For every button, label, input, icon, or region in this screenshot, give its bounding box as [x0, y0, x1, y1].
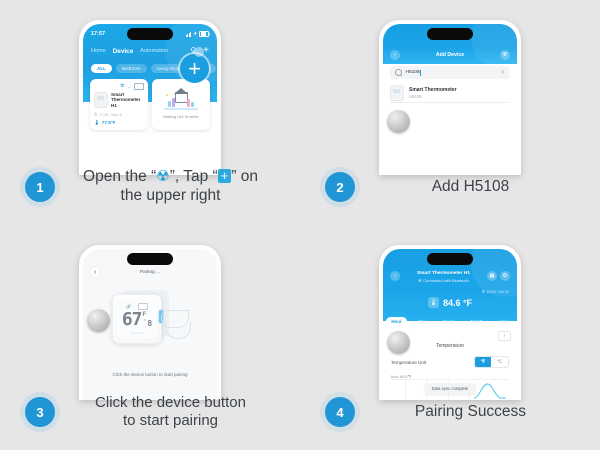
device-detail-navbar: ‹ Smart Thermometer H1 ☢ Connected with … [383, 271, 517, 285]
statistics-icon[interactable]: ▦ [487, 271, 497, 281]
caption-line-1: Click the device button [95, 394, 246, 411]
step-3-caption: 3 Click the device button to start pairi… [0, 382, 300, 442]
unit-toggle[interactable]: ℉ ℃ [474, 356, 509, 368]
status-bar: 17:57 ◕ [83, 27, 217, 41]
step-2-text: Add H5108 [355, 178, 600, 197]
chip-bedroom[interactable]: Bedroom [116, 64, 147, 73]
step-badge-3: 3 [25, 397, 55, 427]
chevron-left-icon[interactable]: ‹ [90, 267, 100, 277]
phone-screen-4: ‹ Smart Thermometer H1 ☢ Connected with … [383, 249, 517, 400]
bluetooth-icon: ☢ [418, 278, 422, 283]
step-badge-4: 4 [325, 397, 355, 427]
step-1-caption: 1 Open the “☢”, Tap “+” on the upper rig… [0, 157, 300, 217]
chip-all[interactable]: ALL [91, 64, 112, 73]
phone-mockup-3: ‹ Pairing ... 🔗 67 [79, 245, 221, 400]
tab-year[interactable]: Year [495, 317, 514, 326]
navbar-title: Add Device [436, 52, 464, 58]
bluetooth-icon[interactable]: ☢ [500, 50, 510, 60]
grey-cursor [387, 110, 410, 133]
plus-icon[interactable]: + [203, 46, 209, 56]
tab-device[interactable]: Device [113, 48, 134, 55]
tap-cursor-plus: + [180, 54, 209, 83]
unit-fahrenheit[interactable]: ℉ [475, 357, 491, 367]
search-input[interactable]: H5108 ✕ [390, 66, 510, 79]
device-brand: GoveeLife [131, 331, 144, 335]
lcd-humidity: ˙8 [143, 320, 153, 328]
chevron-left-icon[interactable]: ‹ [390, 50, 400, 60]
steps-grid: 17:57 ◕ Home Device Automation ⚲ + [0, 0, 600, 450]
tab-home[interactable]: Home [91, 48, 106, 54]
lcd-unit: F [143, 312, 147, 318]
tab-month[interactable]: Month [466, 317, 488, 326]
step-panel-1: 17:57 ◕ Home Device Automation ⚲ + [0, 0, 300, 225]
tab-week[interactable]: Week [438, 317, 459, 326]
thermometer-icon: 🌡 [428, 297, 439, 308]
temperature-unit-row: Temperature Unit ℉ ℃ [383, 356, 517, 368]
status-icons: ◕ [186, 31, 209, 38]
tab-hour[interactable]: Hour [386, 317, 406, 326]
caption-part-3: ” on [231, 168, 258, 185]
close-icon[interactable]: ✕ [500, 70, 505, 76]
battery-icon [138, 303, 148, 310]
signal-bars-icon [186, 32, 192, 37]
device-name: Smart Thermometer H1 [111, 92, 144, 109]
unit-celsius[interactable]: ℃ [491, 357, 508, 367]
phone-notch [127, 253, 173, 265]
step-panel-4: ‹ Smart Thermometer H1 ☢ Connected with … [300, 225, 600, 450]
device-body: 🔗 67 F ˙8 GoveeLife [112, 294, 162, 344]
unit-label: Temperature Unit [391, 360, 426, 365]
caption-line-2: to start pairing [123, 412, 218, 429]
device-card[interactable]: ☢ ↔ Smart Thermometer H1 ⏱ 17:57, Nov 6 [90, 79, 148, 130]
last-update-time: ⏱ 19:55, Oct 31 [482, 290, 509, 294]
status-time: 17:57 [91, 31, 105, 37]
phone-screen-3: ‹ Pairing ... 🔗 67 [83, 249, 217, 400]
result-name: Smart Thermometer [409, 87, 457, 93]
gear-icon[interactable]: ⚙ [500, 271, 510, 281]
device-title: Smart Thermometer H1 [400, 271, 487, 276]
bluetooth-icon: ☢ [120, 83, 124, 89]
clock-icon: ⏱ [94, 112, 97, 117]
phone-screen-2: ‹ Add Device ☢ H5108 ✕ Smart Thermometer… [383, 24, 517, 175]
phone-notch [427, 28, 473, 40]
step-2-caption: 2 Add H5108 [300, 157, 600, 217]
device-card-icons: ☢ ↔ [94, 83, 144, 90]
device-lcd: 67 F ˙8 [122, 311, 152, 329]
add-device-navbar: ‹ Add Device ☢ [383, 48, 517, 61]
connection-text: Connected with Bluetooth [423, 278, 469, 283]
step-3-text: Click the device button to start pairing [55, 394, 300, 431]
device-card-main: Smart Thermometer H1 [94, 92, 144, 109]
grey-cursor [387, 331, 410, 354]
phone-mockup-4: ‹ Smart Thermometer H1 ☢ Connected with … [379, 245, 521, 400]
wifi-icon: ◕ [193, 31, 197, 37]
caption-part-2: ”, Tap “ [170, 168, 218, 185]
device-temperature: 77.5°F [102, 120, 116, 125]
caption-part-1: Open the “ [83, 168, 156, 185]
search-value: H5108 [406, 70, 497, 75]
chevron-right-icon[interactable]: › [498, 331, 511, 341]
search-icon [395, 69, 402, 76]
result-texts: Smart Thermometer H5108 [409, 87, 457, 100]
device-face: 🔗 67 F ˙8 GoveeLife [117, 299, 157, 339]
caption-line-2: the upper right [121, 187, 221, 204]
smart-home-illustration [164, 91, 198, 111]
pairing-hint: Click the device button to start pairing [83, 372, 217, 377]
chevron-left-icon[interactable]: ‹ [390, 271, 400, 281]
step-panel-3: ‹ Pairing ... 🔗 67 [0, 225, 300, 450]
step-1-text: Open the “☢”, Tap “+” on the upper right [55, 168, 300, 206]
reading-value: 84.6 °F [443, 298, 472, 308]
battery-icon [199, 31, 209, 38]
navbar-titles: Smart Thermometer H1 ☢ Connected with Bl… [400, 271, 487, 283]
lcd-side: F ˙8 [143, 312, 153, 328]
device-cards: ☢ ↔ Smart Thermometer H1 ⏱ 17:57, Nov 6 [90, 79, 210, 130]
connection-status: ☢ Connected with Bluetooth [400, 278, 487, 283]
timestamp-text: 19:55, Oct 31 [486, 290, 509, 294]
thermometer-device-icon [390, 85, 404, 101]
device-timestamp: 17:57, Nov 6 [99, 112, 122, 117]
result-model: H5108 [409, 94, 457, 99]
step-4-text: Pairing Success [355, 403, 600, 422]
thermometer-icon-small: 🌡 [94, 120, 100, 126]
promo-content: Making Life Smarter [156, 83, 206, 126]
step-badge-1: 1 [25, 172, 55, 202]
tab-day[interactable]: Day [413, 317, 431, 326]
plus-icon: + [218, 169, 232, 183]
hand-illustration [161, 302, 191, 340]
link-icon: 🔗 [126, 304, 131, 309]
device-temperature-row: 🌡 77.5°F [94, 120, 144, 126]
clock-icon: ⏱ [482, 290, 485, 294]
phone-screen-1: 17:57 ◕ Home Device Automation ⚲ + [83, 24, 217, 175]
search-result-item[interactable]: Smart Thermometer H5108 [390, 84, 510, 103]
step-4-caption: 4 Pairing Success [300, 382, 600, 442]
step-panel-2: ‹ Add Device ☢ H5108 ✕ Smart Thermometer… [300, 0, 600, 225]
pairing-navbar: ‹ Pairing ... [83, 266, 217, 278]
phone-mockup-1: 17:57 ◕ Home Device Automation ⚲ + [79, 20, 221, 175]
device-timestamp-row: ⏱ 17:57, Nov 6 [94, 112, 144, 117]
thermometer-icon [94, 92, 108, 108]
phone-mockup-2: ‹ Add Device ☢ H5108 ✕ Smart Thermometer… [379, 20, 521, 175]
bluetooth-icon: ☢ [156, 168, 169, 185]
current-reading: 🌡 84.6 °F [428, 297, 472, 308]
lcd-temperature: 67 [122, 311, 142, 329]
promo-card[interactable]: Making Life Smarter [152, 79, 210, 130]
tab-automation[interactable]: Automation [140, 48, 168, 54]
grey-cursor [87, 309, 110, 332]
pairing-title: Pairing ... [100, 270, 200, 275]
battery-icon [134, 83, 144, 90]
range-tabs: Hour Day Week Month Year [383, 315, 517, 327]
phone-notch [427, 253, 473, 265]
step-badge-2: 2 [325, 172, 355, 202]
signal-icon: ↔ [127, 84, 132, 89]
promo-text: Making Life Smarter [163, 114, 199, 119]
navbar-actions: ▦ ⚙ [487, 271, 510, 281]
